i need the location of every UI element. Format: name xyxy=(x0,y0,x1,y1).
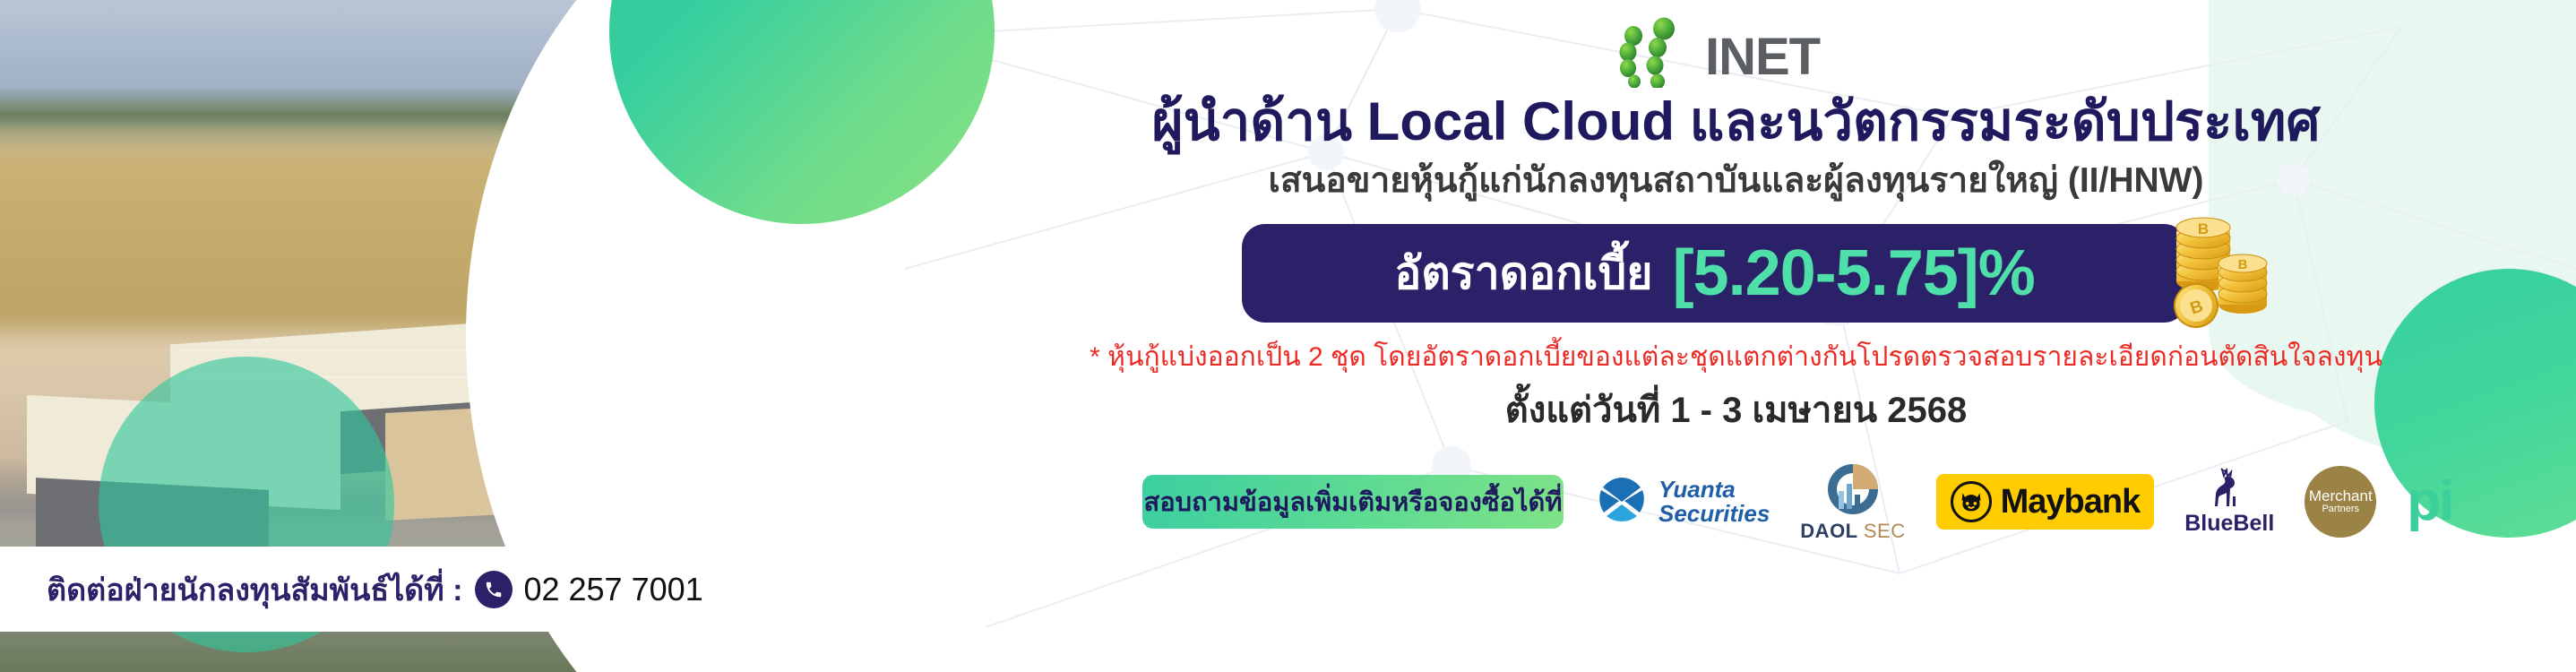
bluebell-deer-icon xyxy=(2206,468,2253,511)
yuanta-petal-icon xyxy=(1594,474,1650,530)
daol-main: DAOL xyxy=(1800,520,1857,542)
svg-text:B: B xyxy=(2238,257,2248,272)
inet-bond-offering-banner: INET ผู้นำด้าน Local Cloud และนวัตกรรมระ… xyxy=(0,0,2576,672)
merchant-line1: Merchant xyxy=(2309,488,2373,504)
inet-logo-text: INET xyxy=(1705,27,1820,87)
yuanta-line1: Yuanta xyxy=(1658,478,1770,502)
partner-logos: Yuanta Securities xyxy=(1594,463,2452,540)
partner-logo-daol-sec[interactable]: DAOL SEC xyxy=(1800,463,1905,540)
offer-period-text: ตั้งแต่วันที่ 1 - 3 เมษายน 2568 xyxy=(896,381,2576,438)
daol-circle-chart-icon xyxy=(1824,461,1882,518)
partner-logo-bluebell[interactable]: BlueBell xyxy=(2184,463,2274,540)
partner-logo-maybank[interactable]: Maybank xyxy=(1936,463,2155,540)
yuanta-line2: Securities xyxy=(1658,502,1770,526)
interest-rate-value: [5.20-5.75]% xyxy=(1673,241,2035,306)
banner-content: INET ผู้นำด้าน Local Cloud และนวัตกรรมระ… xyxy=(896,0,2576,672)
page-headline: ผู้นำด้าน Local Cloud และนวัตกรรมระดับปร… xyxy=(896,79,2576,164)
yuanta-wordmark: Yuanta Securities xyxy=(1658,478,1770,525)
svg-text:B: B xyxy=(2198,220,2209,237)
pi-wordmark-icon: pi xyxy=(2407,479,2452,524)
maybank-wordmark: Maybank xyxy=(2001,483,2141,521)
gold-coins-stack-icon: B B B xyxy=(2164,204,2276,330)
maybank-tiger-icon xyxy=(1951,481,1992,522)
interest-rate-label: อัตราดอกเบี้ย xyxy=(1394,251,1652,296)
cta-and-partners-row: สอบถามข้อมูลเพิ่มเติมหรือจองซื้อได้ที่ xyxy=(896,452,2576,551)
contact-phone-number[interactable]: 02 257 7001 xyxy=(523,571,702,608)
inet-logo: INET xyxy=(1608,16,1904,88)
merchant-line2: Partners xyxy=(2322,504,2359,515)
more-info-button[interactable]: สอบถามข้อมูลเพิ่มเติมหรือจองซื้อได้ที่ xyxy=(1142,475,1564,529)
daol-sub: SEC xyxy=(1864,520,1906,542)
bluebell-wordmark: BlueBell xyxy=(2184,511,2274,537)
partner-logo-merchant-partners[interactable]: Merchant Partners xyxy=(2305,463,2376,540)
phone-icon xyxy=(475,571,513,608)
contact-label: ติดต่อฝ่ายนักลงทุนสัมพันธ์ได้ที่ : xyxy=(47,565,462,614)
merchant-partners-circle-icon: Merchant Partners xyxy=(2305,466,2376,538)
partner-logo-yuanta[interactable]: Yuanta Securities xyxy=(1594,463,1770,540)
daol-wordmark: DAOL SEC xyxy=(1800,520,1905,543)
investor-relations-contact: ติดต่อฝ่ายนักลงทุนสัมพันธ์ได้ที่ : 02 25… xyxy=(0,547,883,632)
page-subheadline: เสนอขายหุ้นกู้แก่นักลงทุนสถาบันและผู้ลงท… xyxy=(896,152,2576,208)
inet-dots-logo-icon xyxy=(1608,16,1716,88)
partner-logo-pi[interactable]: pi xyxy=(2407,463,2452,540)
offer-disclaimer: * หุ้นกู้แบ่งออกเป็น 2 ชุด โดยอัตราดอกเบ… xyxy=(896,336,2576,378)
interest-rate-box: อัตราดอกเบี้ย [5.20-5.75]% xyxy=(1242,224,2187,323)
